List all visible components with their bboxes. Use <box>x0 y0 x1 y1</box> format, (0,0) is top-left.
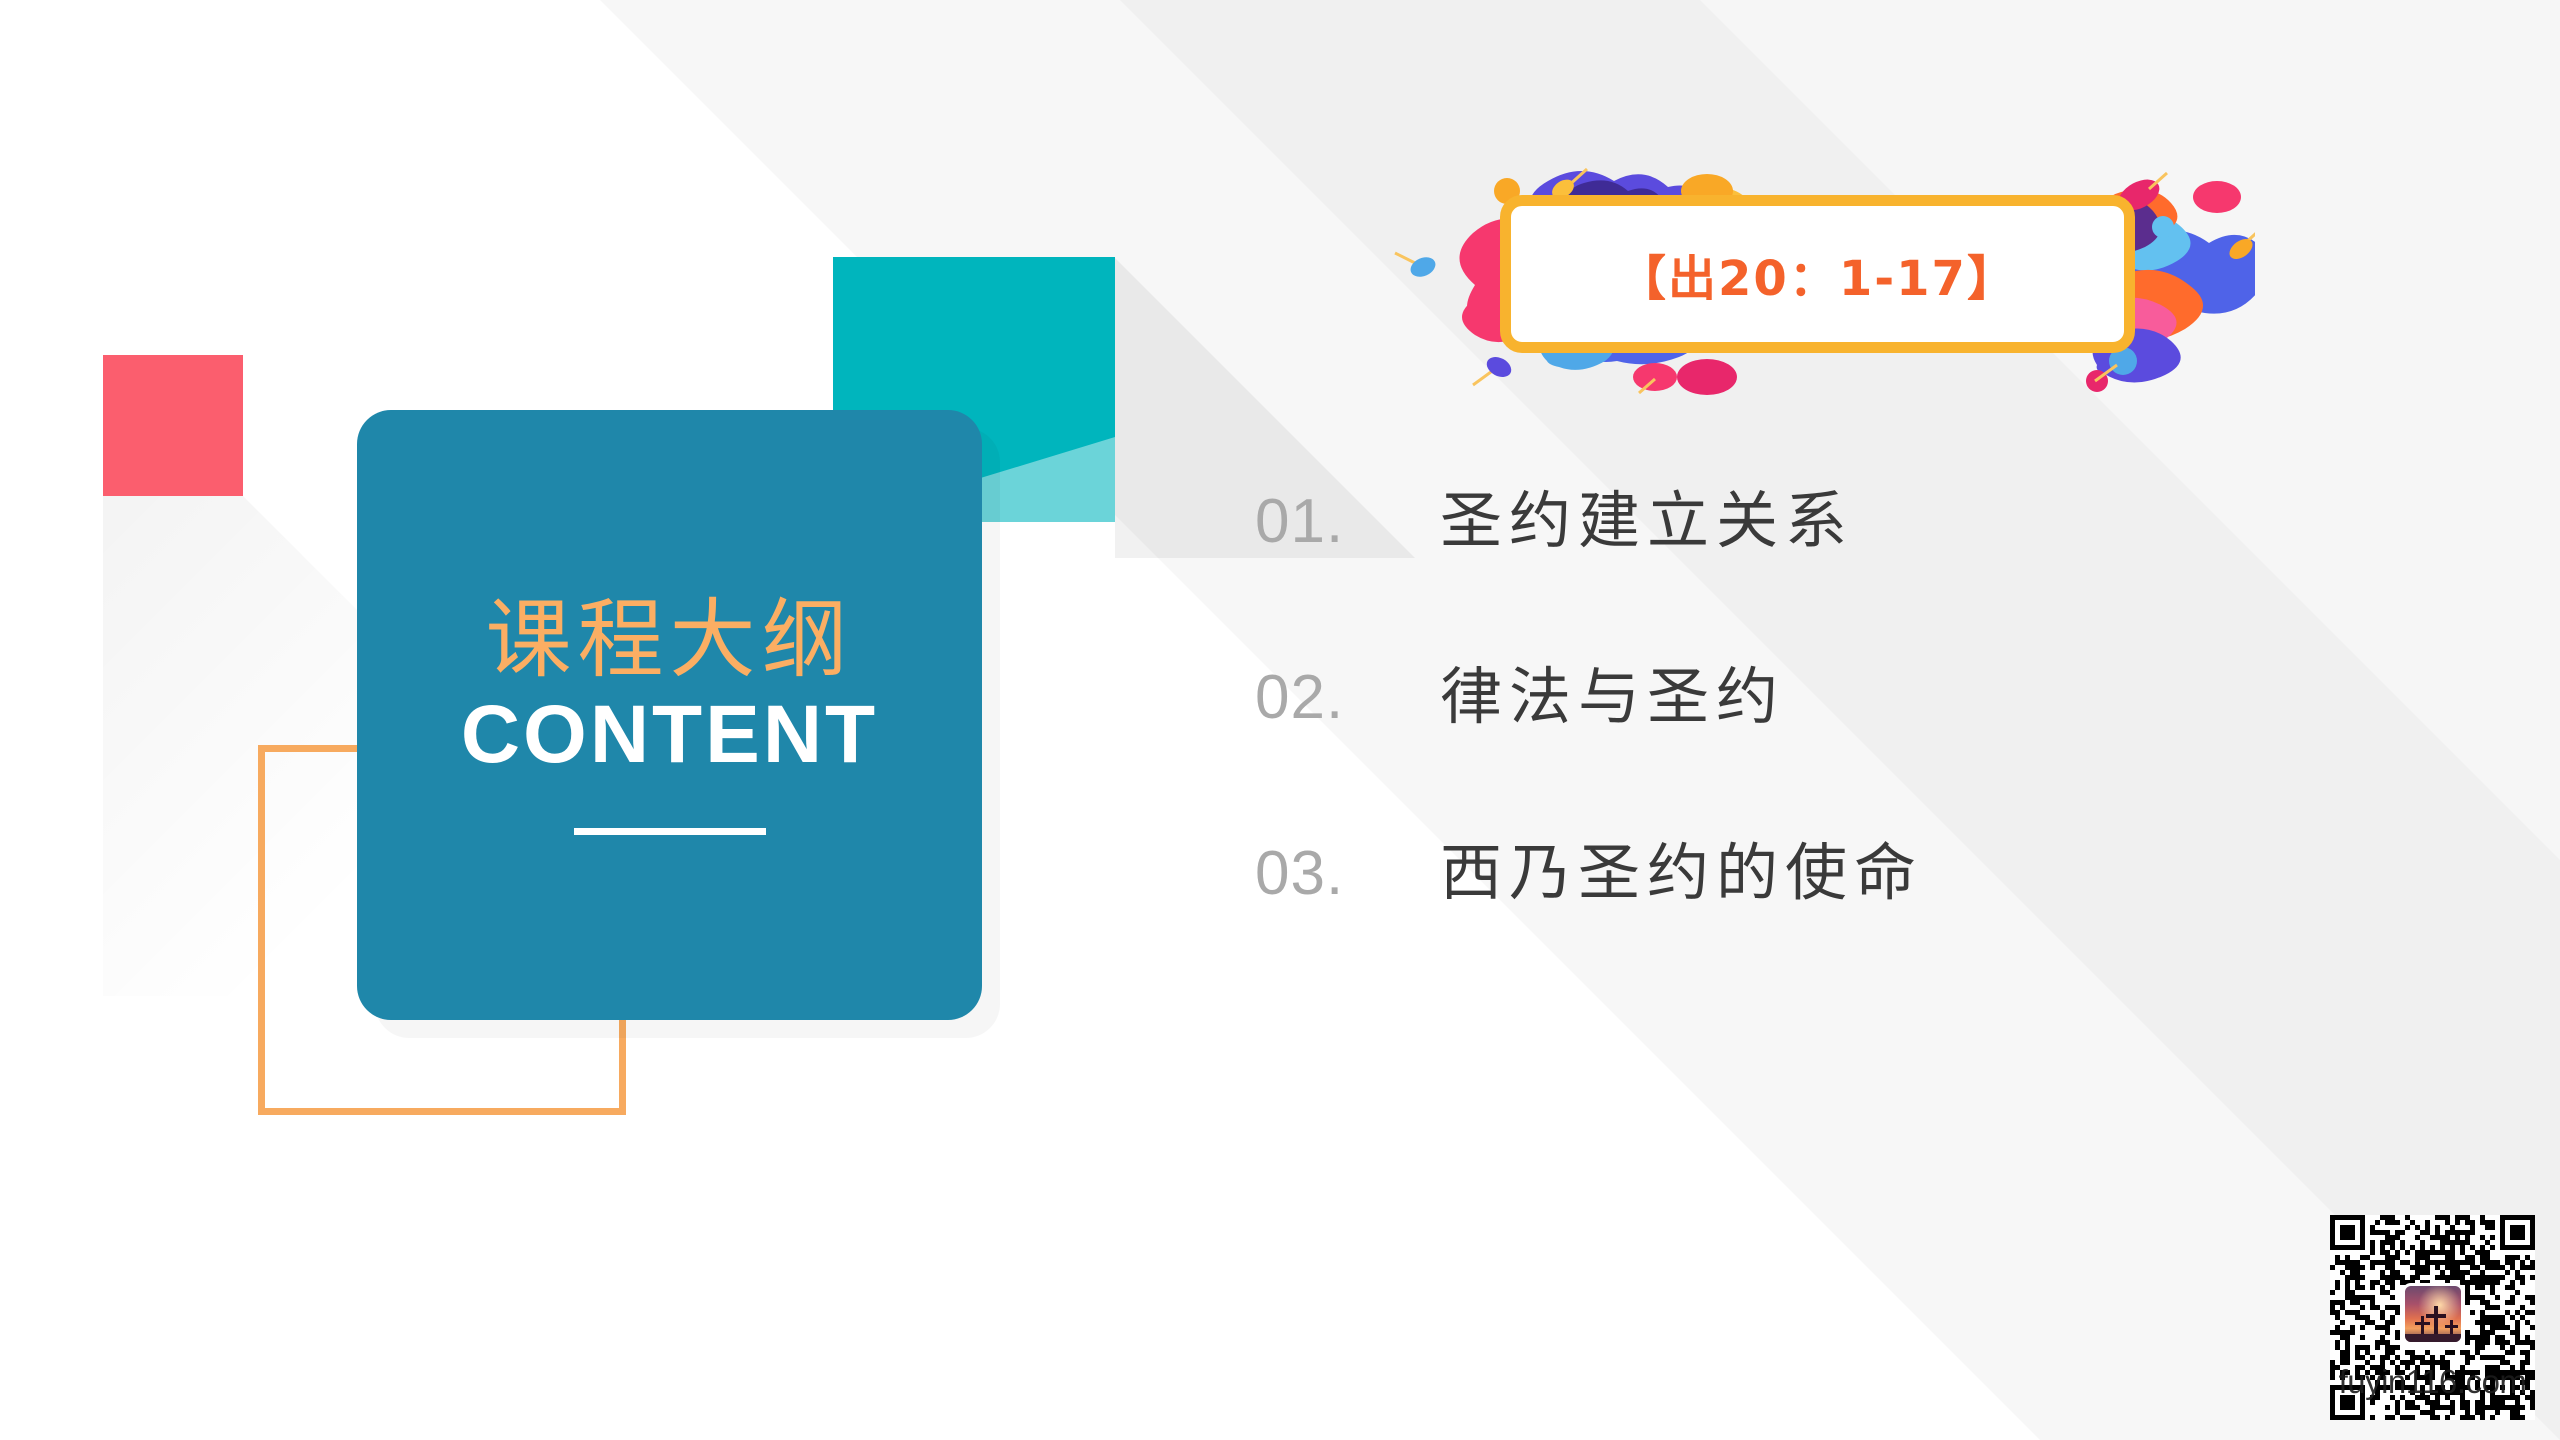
list-item[interactable]: 01. 圣约建立关系 <box>1255 470 2405 646</box>
card-divider-line <box>574 828 766 835</box>
outline-item-number: 01. <box>1255 486 1440 557</box>
outline-list: 01. 圣约建立关系 02. 律法与圣约 03. 西乃圣约的使命 <box>1255 470 2405 998</box>
list-item[interactable]: 02. 律法与圣约 <box>1255 646 2405 822</box>
site-watermark: fuyin116.com <box>2320 1363 2545 1401</box>
pink-square-decoration <box>103 355 243 496</box>
scripture-reference-text: 【出20：1-17】 <box>1618 239 2017 309</box>
slide-canvas: 课程大纲 CONTENT <box>0 0 2560 1440</box>
outline-item-label: 圣约建立关系 <box>1440 470 1854 560</box>
scripture-reference-box: 【出20：1-17】 <box>1500 195 2135 353</box>
outline-item-number: 03. <box>1255 838 1440 909</box>
qr-center-logo-icon <box>2402 1283 2464 1345</box>
qr-code[interactable]: fuyin116.com <box>2330 1215 2535 1420</box>
scripture-reference-banner: 【出20：1-17】 <box>1355 165 2255 400</box>
content-title-card: 课程大纲 CONTENT <box>357 410 982 1020</box>
card-title-chinese: 课程大纲 <box>486 595 854 685</box>
outline-item-number: 02. <box>1255 662 1440 733</box>
outline-item-label: 西乃圣约的使命 <box>1440 822 1923 912</box>
outline-item-label: 律法与圣约 <box>1440 646 1785 736</box>
list-item[interactable]: 03. 西乃圣约的使命 <box>1255 822 2405 998</box>
card-title-english: CONTENT <box>461 692 878 778</box>
